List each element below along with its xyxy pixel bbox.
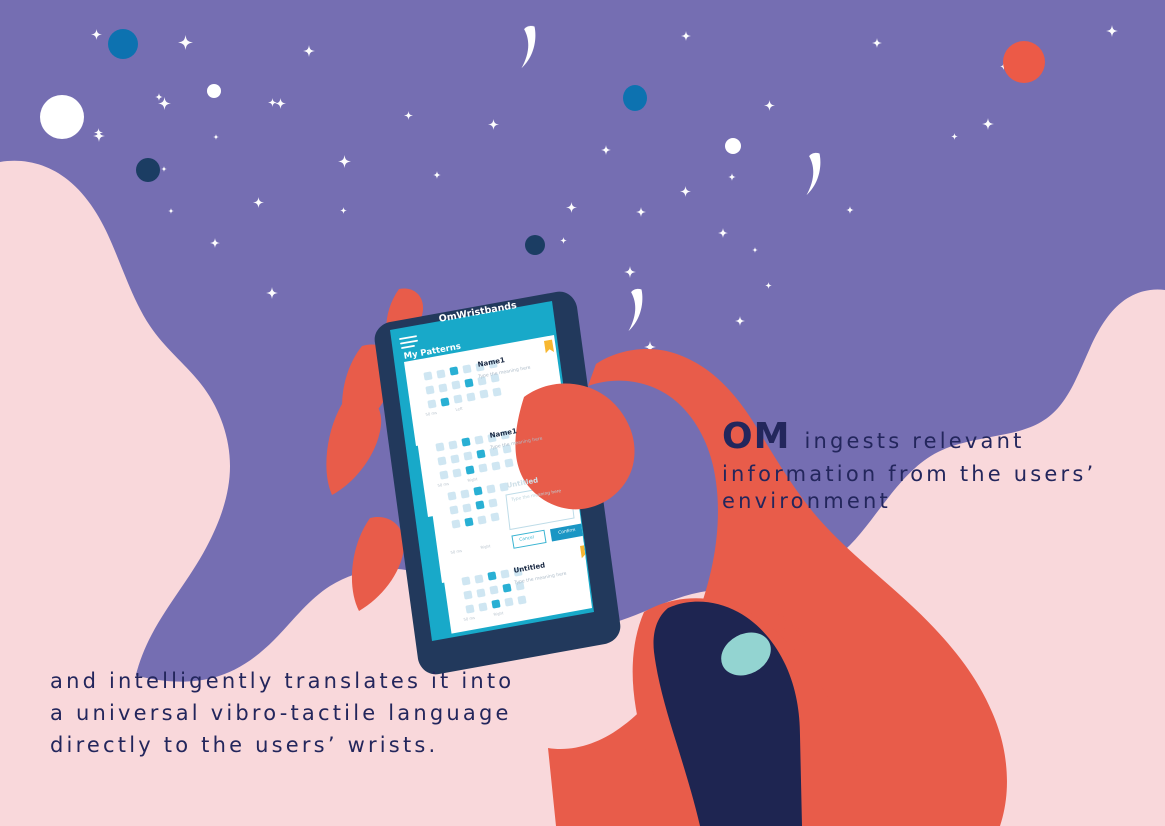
planet-blue-left: [108, 29, 138, 59]
planet-white-big: [40, 95, 84, 139]
illustration-canvas: OmWristbands My Patterns Name1 Type the …: [0, 0, 1165, 826]
planet-white-small: [207, 84, 221, 98]
planet-navy-mid: [525, 235, 545, 255]
brand-name: OM: [722, 414, 790, 461]
headline-block: OMingests relevant information from the …: [722, 414, 1122, 515]
planet-navy-small: [136, 158, 160, 182]
planet-white-tiny: [725, 138, 741, 154]
planet-blue-mid: [623, 85, 647, 111]
body-paragraph: and intelligently translates it into a u…: [50, 666, 520, 762]
planet-red-right: [1003, 41, 1045, 83]
